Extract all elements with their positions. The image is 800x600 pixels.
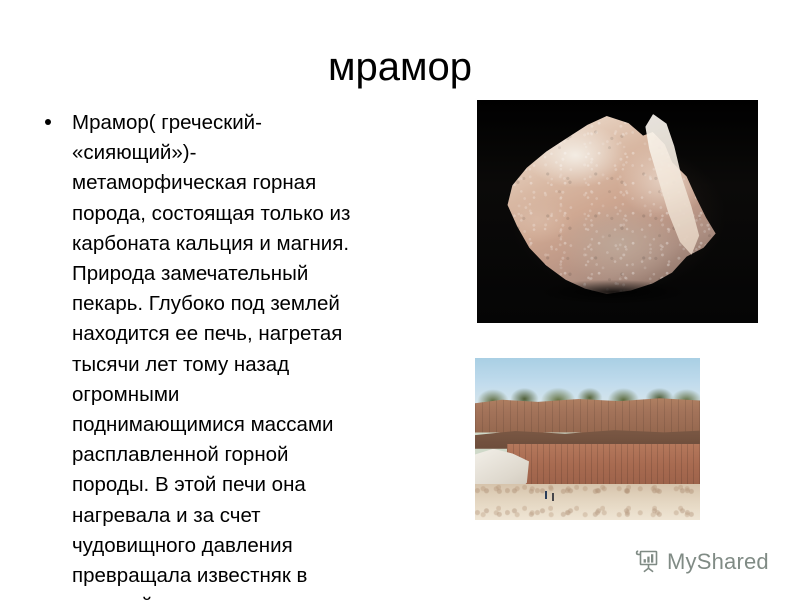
text-line: породы. В этой печи она [72,470,390,500]
text-line: Природа замечательный [72,259,390,289]
text-line: находится ее печь, нагретая [72,319,390,349]
marble-rock-shadow [505,275,721,309]
quarry-rubble-ground [475,484,700,520]
text-line: превращала известняк в [72,561,390,591]
text-line: пекарь. Глубоко под землей [72,289,390,319]
text-line: порода, состоящая только из [72,199,390,229]
quarry-bench-upper [475,397,700,433]
image-marble-quarry [475,358,700,520]
text-line: чудовищного давления [72,531,390,561]
watermark: MyShared [634,548,769,575]
list-item: Мрамор( греческий- «сияющий»)- метаморфи… [38,108,390,600]
text-line: поднимающимися массами [72,410,390,440]
page-title: мрамор [0,44,800,90]
text-line: метаморфическая горная [72,168,390,198]
text-line: расплавленной горной [72,440,390,470]
watermark-label: MyShared [667,550,769,574]
flipchart-bar-chart-icon [634,548,661,575]
image-marble-rock [477,100,758,323]
text-line: Мрамор( греческий- [72,108,390,138]
slide: мрамор Мрамор( греческий- «сияющий»)- ме… [0,0,800,600]
text-line: тысячи лет тому назад [72,350,390,380]
body-paragraph: Мрамор( греческий- «сияющий»)- метаморфи… [72,108,390,600]
body-text-block: Мрамор( греческий- «сияющий»)- метаморфи… [38,108,390,600]
quarry-worker [545,491,547,499]
text-line: огромными [72,380,390,410]
text-line: нагревала и за счет [72,501,390,531]
text-line: карбоната кальция и магния. [72,229,390,259]
text-line: «сияющий»)- [72,138,390,168]
quarry-worker [552,493,554,501]
bullet-dot-icon [45,119,51,125]
text-line: твердый мрамор. [72,591,390,600]
